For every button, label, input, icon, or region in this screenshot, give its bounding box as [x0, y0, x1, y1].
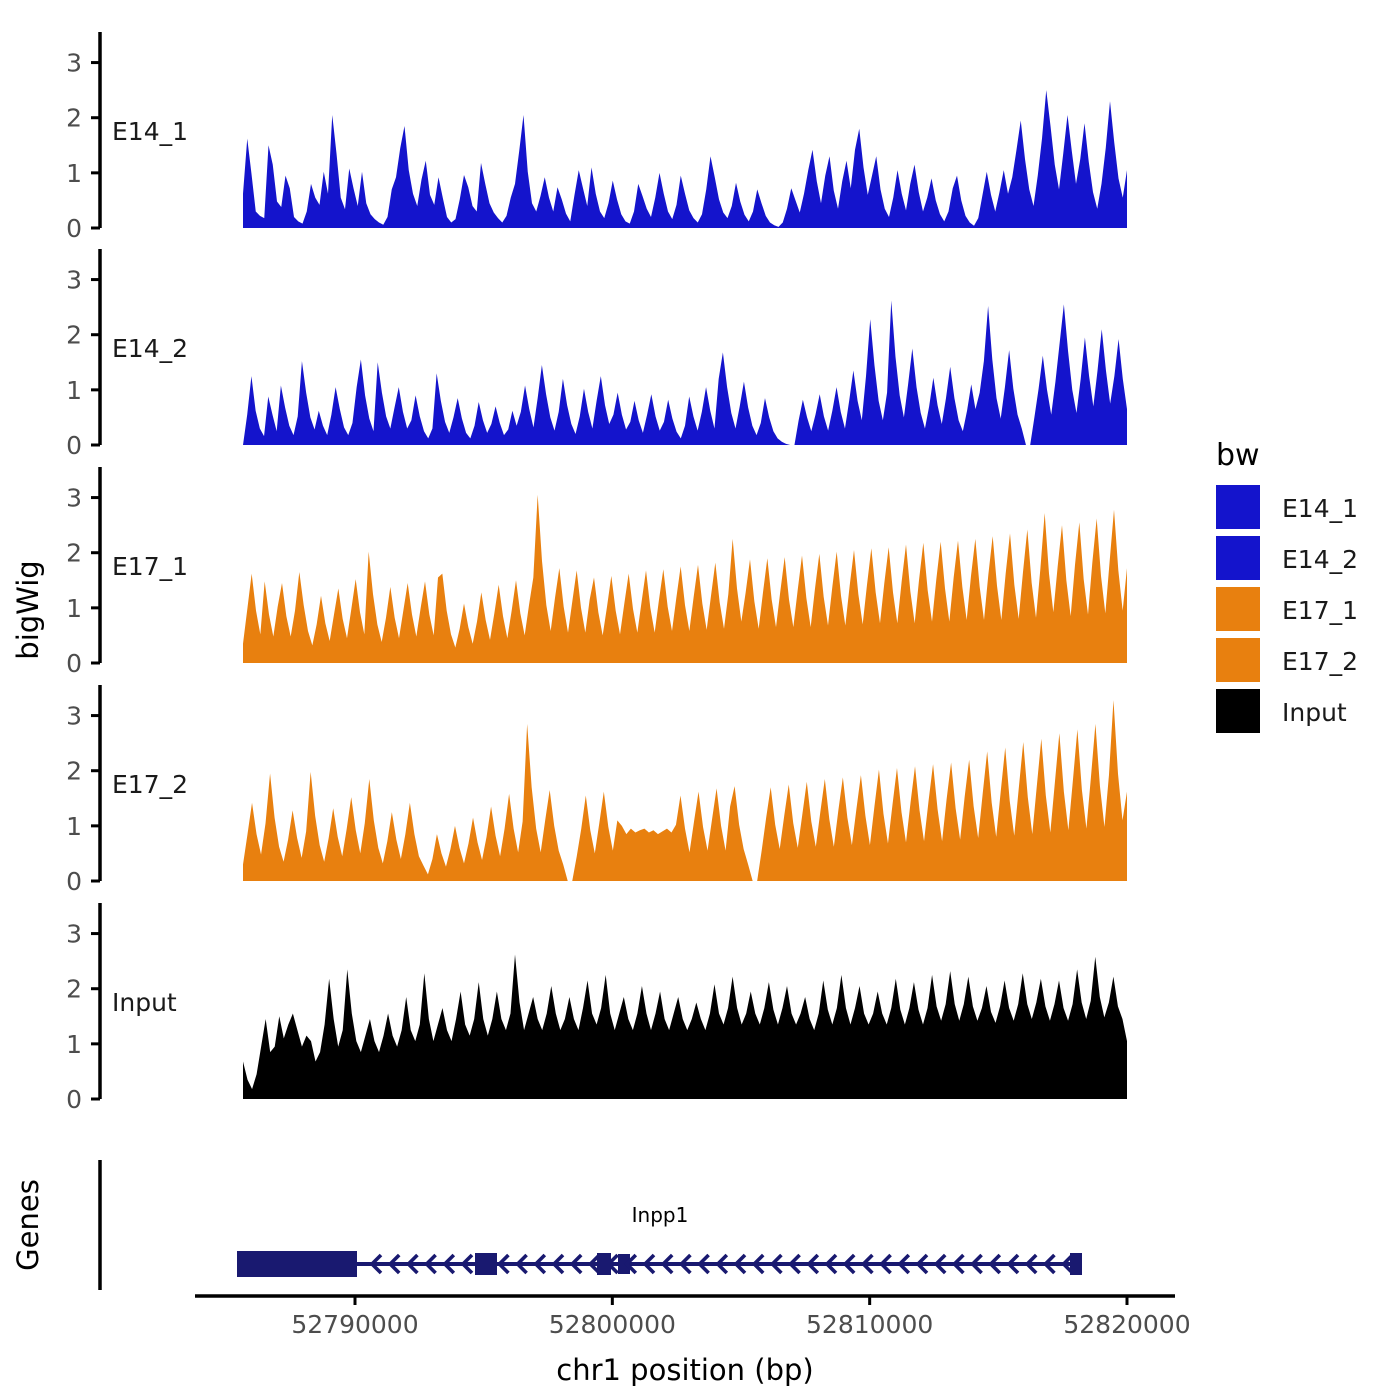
y-tick-label-E14_2-1: 1: [66, 376, 82, 405]
gene-panel: GenesInpp1: [11, 1160, 1082, 1290]
coverage-area-E14_2: [243, 301, 1127, 445]
y-axis-title-bigwig: bigWig: [11, 560, 45, 659]
gene-exon-1: [237, 1251, 357, 1277]
coverage-area-E17_2: [243, 700, 1127, 881]
legend-label-Input: Input: [1282, 698, 1347, 727]
legend-swatch-Input[interactable]: [1216, 689, 1260, 733]
legend-label-E17_2: E17_2: [1282, 647, 1358, 676]
track-label-E14_1: E14_1: [112, 117, 188, 146]
legend-title: bw: [1216, 438, 1260, 473]
y-axis-title-genes: Genes: [11, 1179, 45, 1271]
y-tick-label-Input-1: 1: [66, 1030, 82, 1059]
y-tick-label-E17_1-1: 1: [66, 594, 82, 623]
y-tick-label-E14_1-1: 1: [66, 159, 82, 188]
y-tick-label-E17_2-0: 0: [66, 867, 82, 896]
coverage-area-E17_1: [243, 495, 1127, 663]
legend-swatch-E17_2[interactable]: [1216, 638, 1260, 682]
x-axis: 52790000528000005281000052820000: [195, 1296, 1191, 1339]
x-tick-label-52800000: 52800000: [549, 1310, 676, 1339]
track-panel-E14_1: 0123E14_1: [66, 32, 1127, 243]
gene-exon-2: [475, 1253, 497, 1275]
legend-swatch-E14_2[interactable]: [1216, 536, 1260, 580]
track-label-Input: Input: [112, 988, 177, 1017]
track-label-E14_2: E14_2: [112, 334, 188, 363]
y-tick-label-E14_1-0: 0: [66, 214, 82, 243]
y-tick-label-Input-2: 2: [66, 975, 82, 1004]
track-panel-E14_2: 0123E14_2: [66, 249, 1127, 460]
y-tick-label-E14_2-3: 3: [66, 266, 82, 295]
y-tick-label-E17_2-2: 2: [66, 757, 82, 786]
y-tick-label-E14_2-2: 2: [66, 321, 82, 350]
figure-root: 0123E14_10123E14_20123E17_10123E17_20123…: [0, 0, 1400, 1400]
x-tick-label-52790000: 52790000: [291, 1310, 418, 1339]
x-axis-title: chr1 position (bp): [556, 1353, 813, 1387]
legend-swatch-E17_1[interactable]: [1216, 587, 1260, 631]
y-tick-label-E14_1-2: 2: [66, 104, 82, 133]
y-tick-label-E14_2-0: 0: [66, 431, 82, 460]
track-panel-E17_1: 0123E17_1: [66, 467, 1127, 678]
y-tick-label-E17_2-1: 1: [66, 812, 82, 841]
genome-browser-figure: 0123E14_10123E14_20123E17_10123E17_20123…: [0, 0, 1400, 1400]
y-tick-label-Input-0: 0: [66, 1085, 82, 1114]
y-tick-label-E17_1-0: 0: [66, 649, 82, 678]
y-tick-label-Input-3: 3: [66, 920, 82, 949]
legend: bwE14_1E14_2E17_1E17_2Input: [1216, 438, 1358, 733]
track-panel-Input: 0123Input: [66, 903, 1127, 1114]
track-label-E17_1: E17_1: [112, 552, 188, 581]
track-label-E17_2: E17_2: [112, 770, 188, 799]
y-tick-label-E14_1-3: 3: [66, 49, 82, 78]
legend-label-E17_1: E17_1: [1282, 596, 1358, 625]
coverage-area-Input: [243, 955, 1127, 1099]
legend-label-E14_2: E14_2: [1282, 545, 1358, 574]
gene-name-label: Inpp1: [632, 1203, 689, 1227]
x-tick-label-52810000: 52810000: [806, 1310, 933, 1339]
track-panel-E17_2: 0123E17_2: [66, 685, 1127, 896]
y-tick-label-E17_1-3: 3: [66, 484, 82, 513]
legend-label-E14_1: E14_1: [1282, 494, 1358, 523]
y-tick-label-E17_1-2: 2: [66, 539, 82, 568]
legend-swatch-E14_1[interactable]: [1216, 485, 1260, 529]
x-tick-label-52820000: 52820000: [1063, 1310, 1190, 1339]
y-tick-label-E17_2-3: 3: [66, 702, 82, 731]
coverage-area-E14_1: [243, 90, 1127, 228]
